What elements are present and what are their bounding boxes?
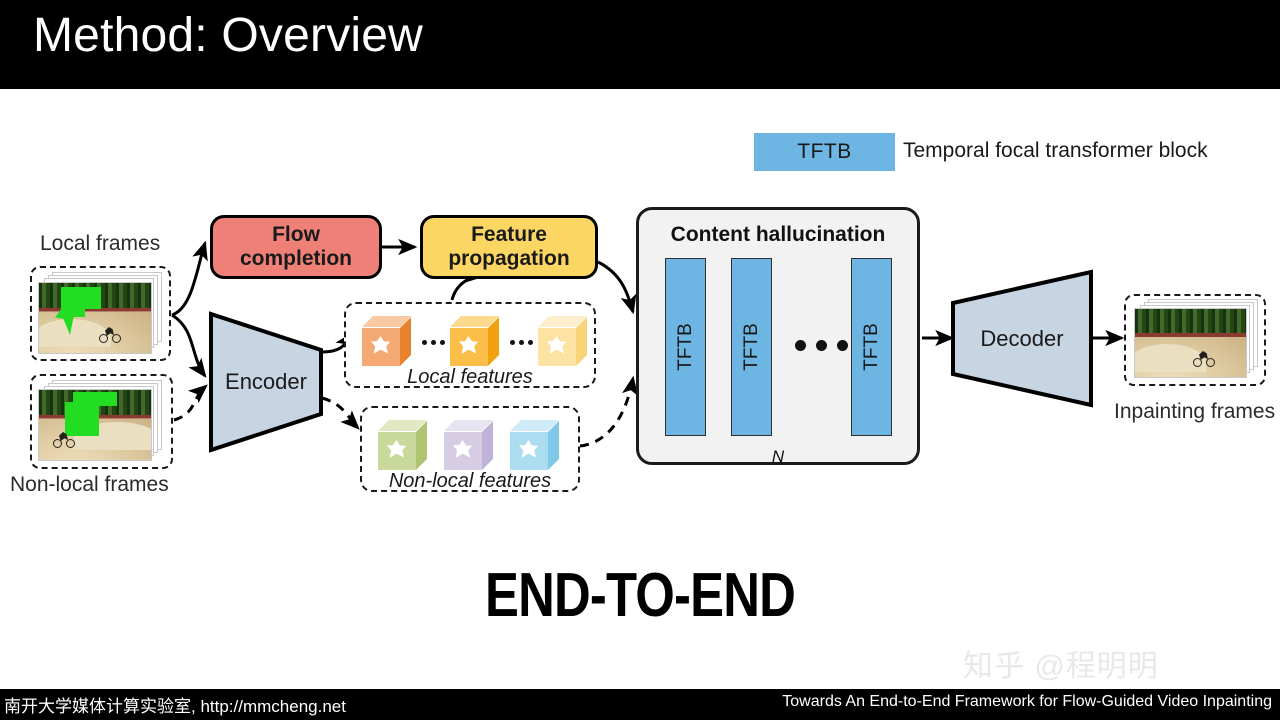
rider-figure — [1193, 351, 1215, 367]
local-features-ellipsis-2 — [510, 340, 533, 345]
footer-paper-title: Towards An End-to-End Framework for Flow… — [782, 693, 1272, 711]
module-encoder[interactable]: Encoder — [208, 311, 324, 453]
page-title: Method: Overview — [33, 8, 423, 63]
bike-wheel-rear — [66, 439, 75, 448]
legend-tftb-label: TFTB — [797, 140, 852, 164]
local-features-caption: Local features — [346, 366, 594, 389]
nonlocal-frame-front — [38, 389, 152, 461]
feature-propagation-line2: propagation — [448, 247, 569, 271]
local-feature-cube-2 — [450, 316, 500, 366]
tree-line — [1135, 309, 1246, 333]
nonlocal-features-caption: Non-local features — [362, 470, 578, 493]
tftb-block-3[interactable]: TFTB — [851, 258, 892, 436]
local-frames-label: Local frames — [40, 232, 160, 256]
local-feature-cube-3 — [538, 316, 588, 366]
module-feature-propagation[interactable]: Feature propagation — [420, 215, 598, 279]
nonlocal-feature-cube-3 — [510, 420, 560, 470]
tftb-block-2-label: TFTB — [741, 323, 763, 371]
slide-canvas: Method: Overview TFTB Temporal focal tra… — [0, 0, 1280, 720]
local-frame-front — [38, 282, 152, 354]
inpainting-frames-label: Inpainting frames — [1114, 400, 1275, 424]
flow-completion-line2: completion — [240, 247, 352, 271]
flow-completion-line1: Flow — [272, 223, 320, 247]
footer-lab-link[interactable]: 南开大学媒体计算实验室, http://mmcheng.net — [4, 692, 346, 717]
rider-figure — [53, 432, 75, 448]
bike-wheel-rear — [1206, 358, 1215, 367]
tftb-repeat-count-label: N — [639, 447, 917, 467]
local-feature-cube-1 — [362, 316, 412, 366]
title-bar: Method: Overview — [0, 0, 1280, 89]
tftb-block-2[interactable]: TFTB — [731, 258, 772, 436]
bike-scene-result — [1135, 309, 1246, 377]
module-flow-completion[interactable]: Flow completion — [210, 215, 382, 279]
bike-scene-nonlocal — [39, 390, 151, 460]
tftb-block-3-label: TFTB — [861, 323, 883, 371]
footer-bar: 南开大学媒体计算实验室, http://mmcheng.net Towards … — [0, 689, 1280, 720]
tftb-block-1[interactable]: TFTB — [665, 258, 706, 436]
end-to-end-heading: END-TO-END — [115, 560, 1165, 631]
encoder-label: Encoder — [225, 369, 307, 395]
feature-propagation-line1: Feature — [471, 223, 547, 247]
nonlocal-frames-label: Non-local frames — [10, 473, 169, 497]
tftb-ellipsis — [795, 340, 848, 351]
content-hallucination-title: Content hallucination — [639, 223, 917, 247]
module-decoder[interactable]: Decoder — [950, 269, 1094, 408]
local-features-group: Local features — [344, 302, 596, 388]
legend-tftb-swatch: TFTB — [754, 133, 895, 171]
module-content-hallucination[interactable]: Content hallucination TFTB TFTB TFTB N — [636, 207, 920, 465]
zhihu-watermark: 知乎 @程明明 — [963, 641, 1159, 685]
local-features-ellipsis-1 — [422, 340, 445, 345]
legend-description: Temporal focal transformer block — [903, 139, 1208, 163]
inpainting-frame-front — [1134, 308, 1247, 378]
mask-region-b — [65, 402, 99, 436]
nonlocal-feature-cube-2 — [444, 420, 494, 470]
decoder-label: Decoder — [980, 326, 1063, 352]
nonlocal-feature-cube-1 — [378, 420, 428, 470]
bike-wheel-rear — [112, 334, 121, 343]
tftb-block-1-label: TFTB — [675, 323, 697, 371]
nonlocal-features-group: Non-local features — [360, 406, 580, 492]
bike-scene — [39, 283, 151, 353]
rider-figure — [99, 327, 121, 343]
